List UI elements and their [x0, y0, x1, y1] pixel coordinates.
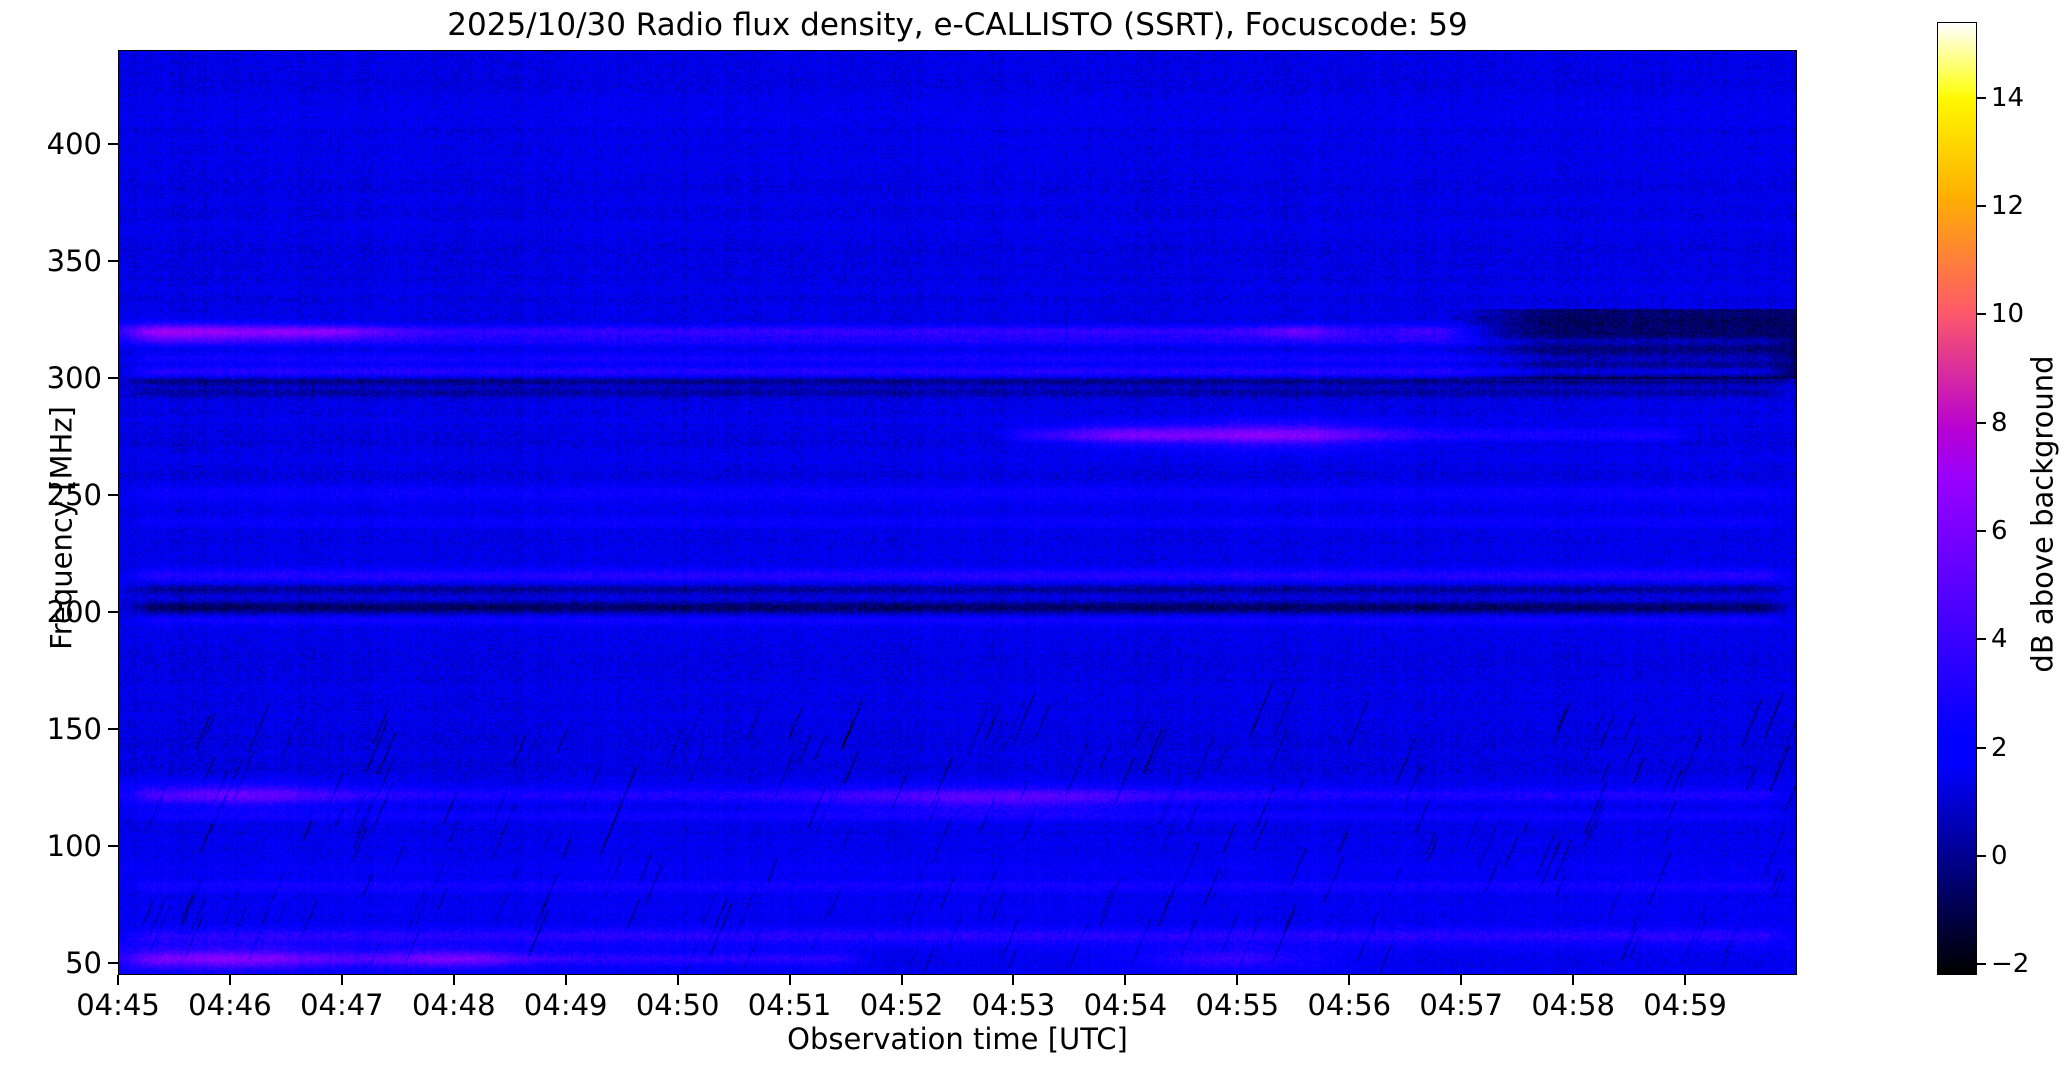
x-tick-mark [1348, 975, 1350, 985]
x-tick-mark [789, 975, 791, 985]
colorbar-tick-label: 6 [1991, 514, 2008, 548]
colorbar-tick-mark [1977, 97, 1986, 99]
colorbar-tick-label: −2 [1991, 947, 2029, 981]
spectrogram-image[interactable] [119, 51, 1797, 975]
x-tick-label: 04:59 [1615, 988, 1755, 1022]
colorbar-tick-mark [1977, 205, 1986, 207]
colorbar-gradient [1938, 23, 1976, 974]
y-axis-label: Frequency [MHz] [46, 66, 78, 991]
colorbar-tick-mark [1977, 313, 1986, 315]
x-tick-mark [1460, 975, 1462, 985]
x-tick-mark [901, 975, 903, 985]
spectrogram-plot-area[interactable] [118, 50, 1797, 975]
x-tick-mark [341, 975, 343, 985]
colorbar-tick-label: 0 [1991, 839, 2008, 873]
y-tick-mark [108, 377, 118, 379]
x-tick-mark [1124, 975, 1126, 985]
y-tick-mark [108, 494, 118, 496]
colorbar-tick-label: 8 [1991, 406, 2008, 440]
y-tick-mark [108, 611, 118, 613]
x-tick-mark [229, 975, 231, 985]
colorbar-group: −202468101214 dB above background [1937, 22, 2066, 975]
y-tick-mark [108, 962, 118, 964]
colorbar-tick-label: 12 [1991, 189, 2024, 223]
colorbar-tick-mark [1977, 963, 1986, 965]
x-tick-mark [565, 975, 567, 985]
page-title: 2025/10/30 Radio flux density, e-CALLIST… [118, 8, 1797, 42]
x-tick-mark [117, 975, 119, 985]
colorbar-tick-mark [1977, 530, 1986, 532]
colorbar-tick-label: 10 [1991, 297, 2024, 331]
y-tick-mark [108, 845, 118, 847]
x-axis-label: Observation time [UTC] [118, 1022, 1797, 1056]
colorbar-tick-label: 4 [1991, 622, 2008, 656]
spectrogram-figure: 2025/10/30 Radio flux density, e-CALLIST… [0, 0, 2066, 1067]
colorbar-tick-mark [1977, 747, 1986, 749]
x-tick-mark [1572, 975, 1574, 985]
colorbar-tick-label: 14 [1991, 81, 2024, 115]
y-tick-mark [108, 260, 118, 262]
colorbar[interactable] [1937, 22, 1977, 975]
colorbar-tick-mark [1977, 422, 1986, 424]
x-tick-mark [1236, 975, 1238, 985]
colorbar-tick-label: 2 [1991, 731, 2008, 765]
x-tick-mark [453, 975, 455, 985]
x-tick-mark [677, 975, 679, 985]
x-tick-mark [1684, 975, 1686, 985]
y-tick-mark [108, 728, 118, 730]
colorbar-label: dB above background [2027, 38, 2059, 991]
y-axis-label-wrapper: Frequency [MHz] [0, 50, 40, 975]
colorbar-tick-mark [1977, 638, 1986, 640]
colorbar-tick-mark [1977, 855, 1986, 857]
colorbar-label-wrapper: dB above background [2041, 22, 2066, 975]
y-tick-mark [108, 143, 118, 145]
x-tick-mark [1012, 975, 1014, 985]
